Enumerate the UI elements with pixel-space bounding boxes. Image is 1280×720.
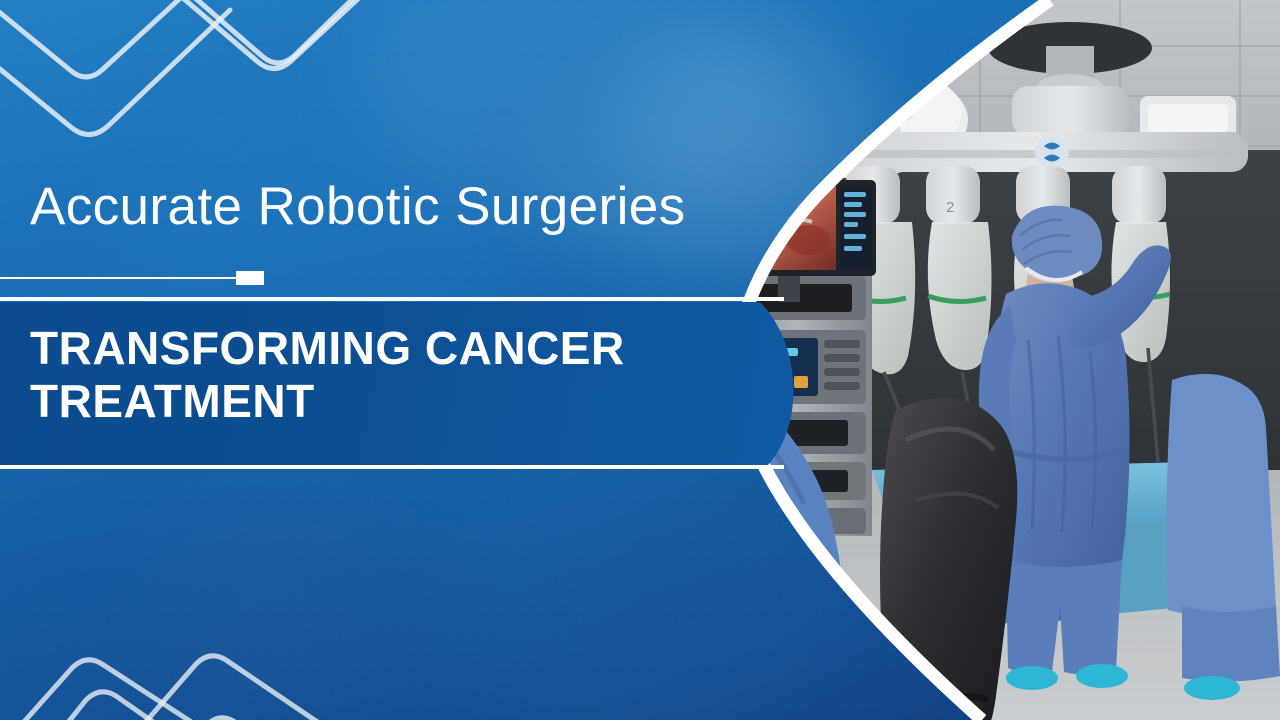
eyebrow-headline: Accurate Robotic Surgeries	[30, 178, 686, 236]
divider-square-accent	[236, 271, 264, 285]
bar-top-rule	[0, 297, 784, 301]
bar-bottom-rule	[0, 465, 784, 469]
divider-line	[0, 277, 245, 279]
promo-banner: 1 2 3	[0, 0, 1280, 720]
page-title: Transforming Cancer Treatment	[30, 322, 750, 428]
divider	[0, 271, 790, 285]
